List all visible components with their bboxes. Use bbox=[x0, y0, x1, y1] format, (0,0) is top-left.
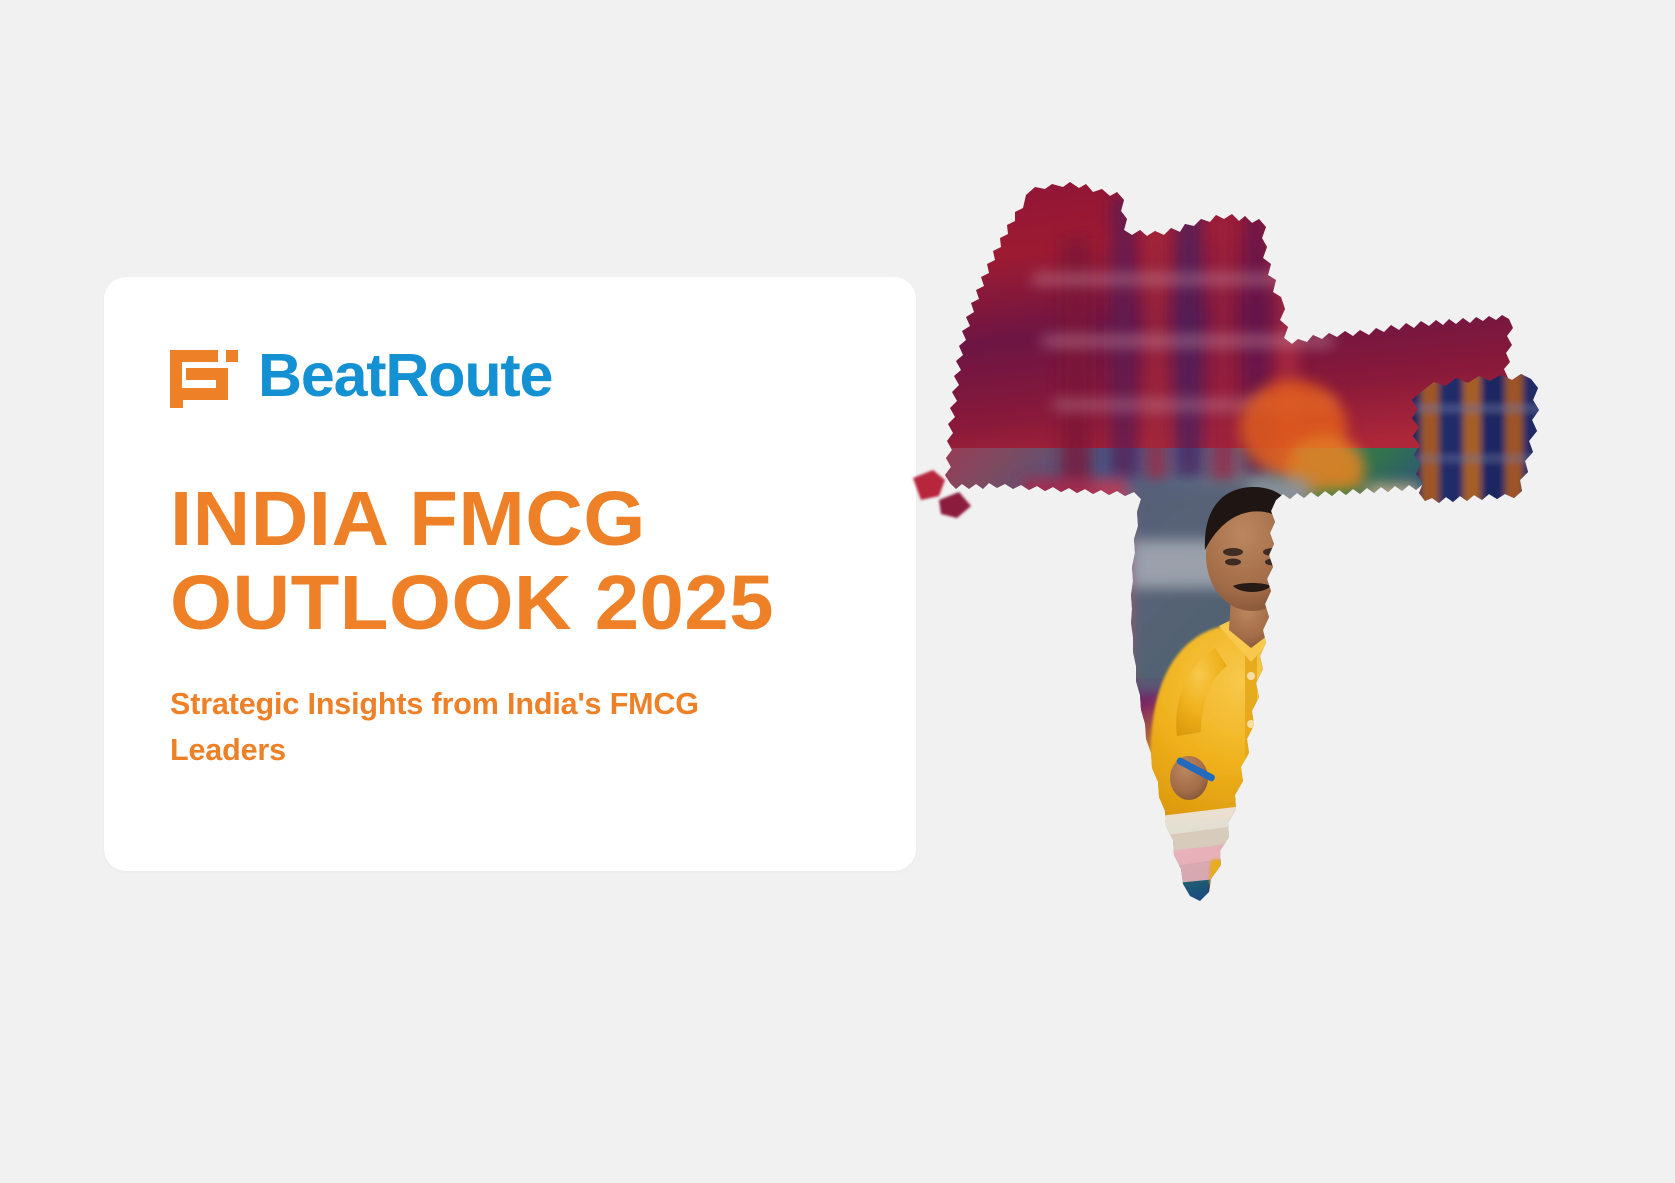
headline-line-2: OUTLOOK 2025 bbox=[170, 566, 880, 641]
shopkeeper-hand bbox=[1277, 698, 1321, 750]
subtitle: Strategic Insights from India's FMCG Lea… bbox=[170, 682, 745, 772]
india-map-figure: RIO 4 bbox=[893, 178, 1553, 938]
map-mainland: RIO 4 bbox=[893, 178, 1553, 938]
headline-line-1: INDIA FMCG bbox=[170, 482, 880, 557]
fmcg-products: RIO 4 bbox=[982, 838, 1466, 938]
card-content: BeatRoute INDIA FMCG OUTLOOK 2025 Strate… bbox=[170, 339, 856, 773]
page-title: INDIA FMCG OUTLOOK 2025 bbox=[170, 482, 856, 640]
hero-card: BeatRoute INDIA FMCG OUTLOOK 2025 Strate… bbox=[104, 277, 916, 871]
india-map: RIO 4 bbox=[893, 178, 1553, 938]
beatroute-s-mark-icon bbox=[170, 342, 242, 408]
brand-logo[interactable]: BeatRoute bbox=[170, 339, 856, 411]
presentation-slide: BeatRoute INDIA FMCG OUTLOOK 2025 Strate… bbox=[0, 0, 1675, 1183]
smartphone bbox=[1281, 667, 1323, 727]
brand-wordmark: BeatRoute bbox=[258, 345, 552, 406]
